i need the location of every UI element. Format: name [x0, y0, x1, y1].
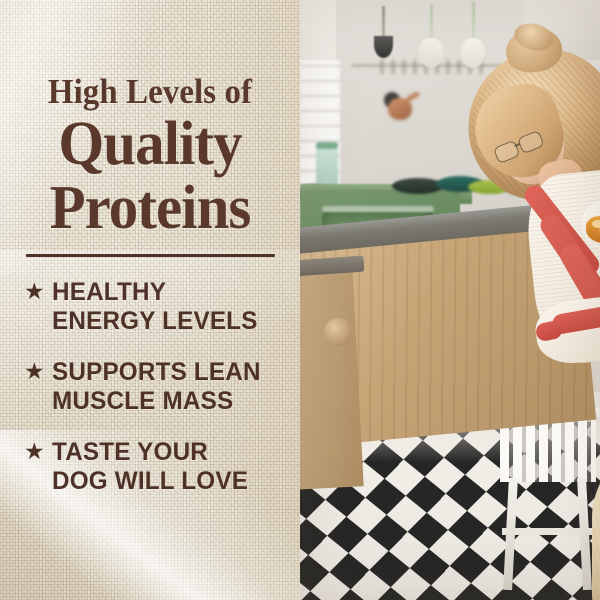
list-item: ★ HEALTHY ENERGY LEVELS [0, 278, 300, 336]
stool-slats [500, 420, 596, 482]
copper-pan-icon [388, 92, 420, 122]
kitchen-photo [300, 0, 600, 600]
headline-line-2: Quality [8, 113, 293, 175]
benefit-line-2: MUSCLE MASS [52, 387, 261, 416]
hanging-spatula-icon [418, 4, 444, 82]
list-item: ★ SUPPORTS LEAN MUSCLE MASS [0, 358, 300, 416]
list-item: ★ TASTE YOUR DOG WILL LOVE [0, 438, 300, 496]
star-icon: ★ [24, 358, 45, 385]
star-icon: ★ [24, 278, 45, 305]
benefit-line-1: HEALTHY [52, 278, 258, 307]
headline-line-1: High Levels of [9, 74, 291, 109]
text-panel: High Levels of Quality Proteins ★ HEALTH… [0, 0, 300, 600]
table-knob [324, 318, 352, 346]
pet-food-ad-banner: High Levels of Quality Proteins ★ HEALTH… [0, 0, 600, 600]
benefit-line-2: DOG WILL LOVE [52, 467, 248, 496]
divider-rule [26, 254, 275, 257]
benefit-list: ★ HEALTHY ENERGY LEVELS ★ SUPPORTS LEAN … [0, 278, 300, 518]
star-icon: ★ [24, 438, 45, 465]
benefit-line-1: TASTE YOUR [52, 438, 248, 467]
hanging-spoon-icon [460, 2, 486, 82]
benefit-line-2: ENERGY LEVELS [52, 307, 258, 336]
stove-handle [322, 206, 434, 212]
headline-line-3: Proteins [8, 177, 293, 239]
benefit-text: SUPPORTS LEAN MUSCLE MASS [52, 358, 261, 416]
white-stool [496, 408, 600, 588]
jar-lid [316, 142, 338, 149]
benefit-text: HEALTHY ENERGY LEVELS [52, 278, 258, 336]
headline: High Levels of Quality Proteins [0, 74, 300, 239]
benefit-text: TASTE YOUR DOG WILL LOVE [52, 438, 248, 496]
hanging-ladle-icon [372, 6, 394, 76]
benefit-line-1: SUPPORTS LEAN [52, 358, 261, 387]
